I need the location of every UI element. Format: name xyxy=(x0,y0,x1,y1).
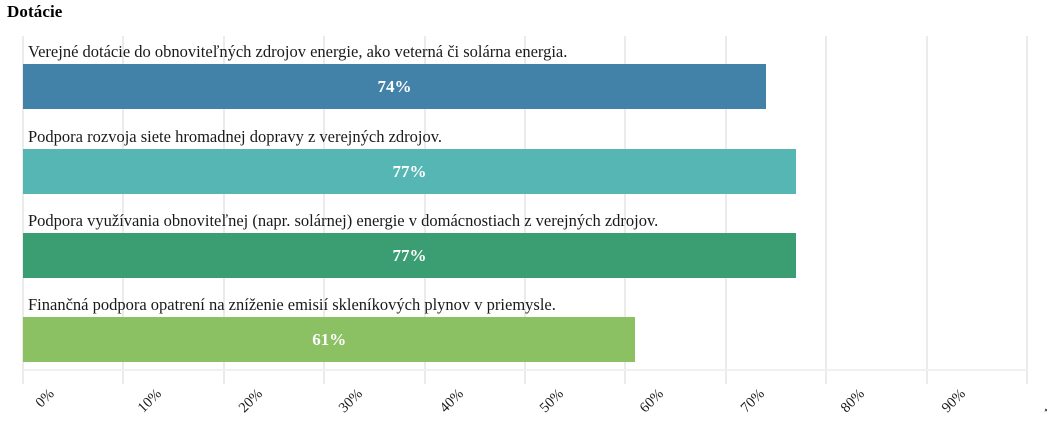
gridline xyxy=(1026,36,1028,371)
x-axis-tick-label: 50% xyxy=(537,386,568,417)
x-axis-tick-label: 80% xyxy=(838,386,869,417)
chart-title: Dotácie xyxy=(7,2,62,22)
tick-mark xyxy=(1026,371,1028,384)
tick-mark xyxy=(424,371,426,384)
x-axis-tick-label: 20% xyxy=(236,386,267,417)
bar-category-label: Verejné dotácie do obnoviteľných zdrojov… xyxy=(28,42,567,62)
gridline xyxy=(825,36,827,371)
x-axis-tick-label: 60% xyxy=(637,386,668,417)
gridline xyxy=(926,36,928,371)
bar[interactable] xyxy=(23,317,635,362)
x-axis-tick-label: 100% xyxy=(1041,386,1047,422)
x-axis-tick-label: 70% xyxy=(738,386,769,417)
bar[interactable] xyxy=(23,149,796,194)
x-axis-tick-label: 90% xyxy=(938,386,969,417)
tick-mark xyxy=(624,371,626,384)
bar[interactable] xyxy=(23,64,766,109)
tick-mark xyxy=(223,371,225,384)
tick-mark xyxy=(122,371,124,384)
tick-mark xyxy=(323,371,325,384)
bar-category-label: Finančná podpora opatrení na zníženie em… xyxy=(28,295,556,315)
bar-category-label: Podpora rozvoja siete hromadnej dopravy … xyxy=(28,127,442,147)
tick-mark xyxy=(524,371,526,384)
bar-chart: Dotácie 0%10%20%30%40%50%60%70%80%90%100… xyxy=(0,0,1047,440)
x-axis-tick-label: 0% xyxy=(33,386,59,412)
tick-mark xyxy=(825,371,827,384)
bar[interactable] xyxy=(23,233,796,278)
tick-mark xyxy=(926,371,928,384)
x-axis-tick-label: 30% xyxy=(336,386,367,417)
x-axis-tick-label: 40% xyxy=(436,386,467,417)
tick-mark xyxy=(725,371,727,384)
bar-category-label: Podpora využívania obnoviteľnej (napr. s… xyxy=(28,211,658,231)
x-axis-tick-label: 10% xyxy=(135,386,166,417)
tick-mark xyxy=(22,371,24,384)
